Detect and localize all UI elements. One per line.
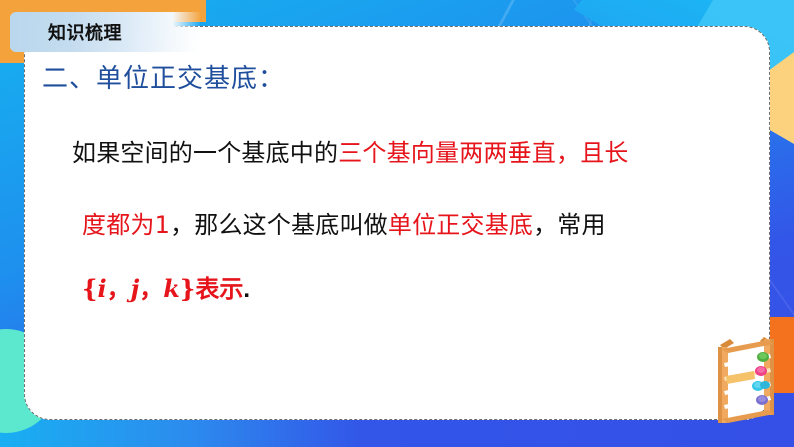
line2-black-text-a: ，那么这个基底叫做: [170, 211, 388, 239]
line2-red-text-a: 度都为1: [82, 211, 170, 239]
abacus-icon: [708, 335, 786, 431]
definition-body: 如果空间的一个基底中的三个基向量两两垂直，且长 度都为1，那么这个基底叫做单位正…: [34, 117, 740, 318]
content-area: 二、单位正交基底： 如果空间的一个基底中的三个基向量两两垂直，且长 度都为1，那…: [24, 26, 770, 420]
notation-suffix: 表示: [195, 275, 243, 303]
basis-vector-i: i: [97, 274, 106, 303]
line2-black-text-b: ，常用: [533, 211, 606, 239]
notation-separator-1: ，: [107, 275, 131, 303]
basis-notation-line: {i，j，k}表示.: [72, 261, 740, 318]
brace-close: }: [180, 274, 195, 303]
line1-red-text: 三个基向量两两垂直，且长: [338, 139, 628, 167]
notation-separator-2: ，: [139, 275, 163, 303]
basis-vector-k: k: [163, 274, 180, 303]
abacus-illustration: [708, 335, 786, 431]
basis-vector-j: j: [131, 274, 140, 303]
definition-line-1: 如果空间的一个基底中的三个基向量两两垂直，且长: [72, 117, 740, 189]
slide-root: 知识梳理 二、单位正交基底： 如果空间的一个基底中的三个基向量两两垂直，且长 度…: [0, 0, 794, 447]
sentence-period: .: [243, 276, 250, 303]
line1-black-text: 如果空间的一个基底中的: [72, 139, 338, 167]
page-title: 二、单位正交基底：: [34, 58, 740, 95]
line2-red-text-b: 单位正交基底: [388, 211, 533, 239]
brace-open: {: [82, 274, 97, 303]
definition-line-2: 度都为1，那么这个基底叫做单位正交基底，常用: [72, 189, 740, 261]
